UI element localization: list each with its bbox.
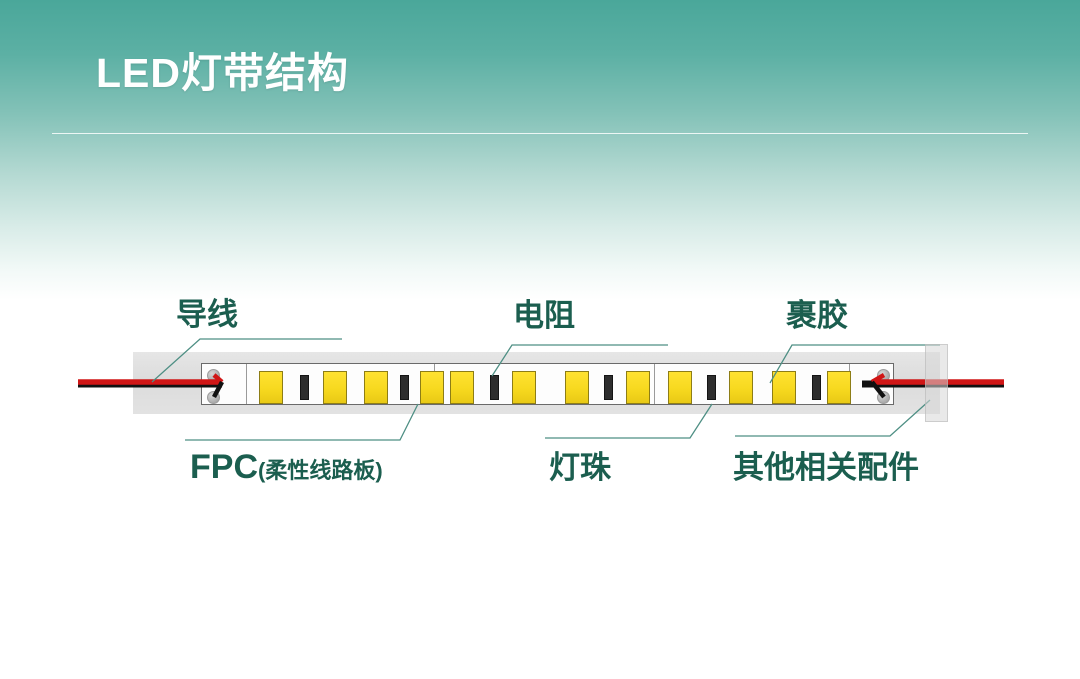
solder-pad-left-positive [207,369,220,382]
resistor-chip [707,375,716,400]
pad-zone-divider-left [246,364,247,404]
label-led-bead: 灯珠 [549,452,611,483]
segment-cut-line-2 [654,364,655,404]
label-fpc-sub: (柔性线路板) [258,458,383,483]
led-strip-diagram: 导线 电阻 裹胶 FPC(柔性线路板) 灯珠 其他相关配件 [0,0,1080,679]
wires-and-leaders-overlay [0,0,1080,679]
label-accessories: 其他相关配件 [733,452,919,483]
solder-pad-left-negative [207,391,220,404]
led-chip [364,371,388,404]
led-chip [512,371,536,404]
led-chip [772,371,796,404]
resistor-chip [490,375,499,400]
led-chip [259,371,283,404]
led-chip [420,371,444,404]
label-resistor: 电阻 [513,300,575,331]
label-wire: 导线 [176,299,238,330]
resistor-chip [300,375,309,400]
resistor-chip [604,375,613,400]
slide-canvas: LED灯带结构 [0,0,1080,679]
label-glue: 裹胶 [786,300,848,331]
solder-pad-right-positive [877,369,890,382]
led-chip [450,371,474,404]
led-chip [626,371,650,404]
led-chip [565,371,589,404]
led-chip [729,371,753,404]
solder-pad-right-negative [877,391,890,404]
label-fpc-main: FPC [190,448,258,486]
led-chip [827,371,851,404]
label-fpc: FPC(柔性线路板) [190,450,383,484]
resistor-chip [400,375,409,400]
led-chip [668,371,692,404]
end-connector-cap [925,344,948,422]
led-chip [323,371,347,404]
resistor-chip [812,375,821,400]
